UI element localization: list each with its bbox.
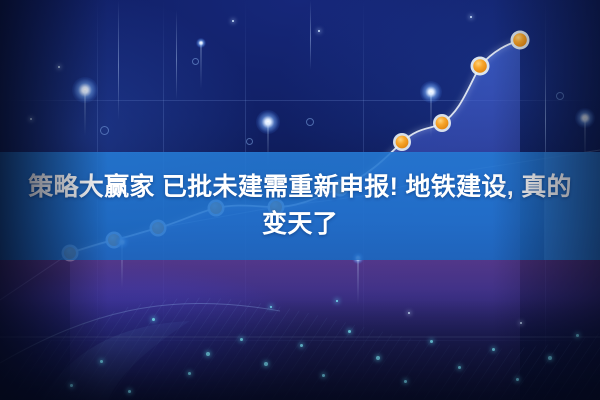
promotional-banner-image: 策略大赢家 已批未建需重新申报! 地铁建设, 真的 变天了	[0, 0, 600, 400]
vignette-overlay	[0, 0, 600, 400]
